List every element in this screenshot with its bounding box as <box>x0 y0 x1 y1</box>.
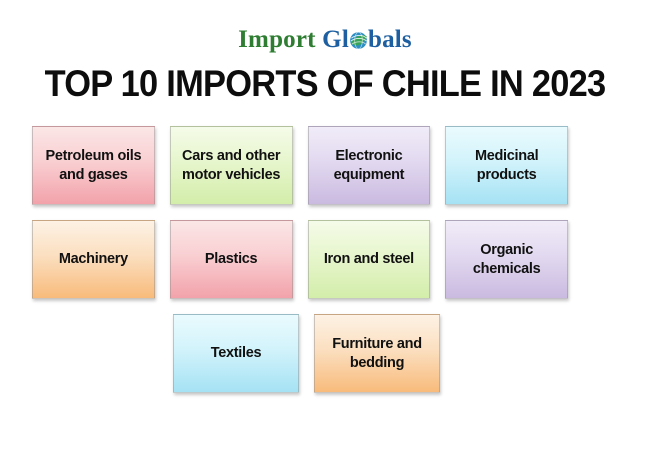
brand-word-import: Import <box>238 26 316 53</box>
import-card-label: Electronic equipment <box>315 147 424 185</box>
import-card-label: Medicinal products <box>452 147 561 185</box>
import-card-plastics[interactable]: Plastics <box>170 220 293 299</box>
brand-logo: Import Gl bals <box>0 24 650 56</box>
brand-word-globals-suffix: bals <box>368 26 412 53</box>
globe-icon <box>349 27 368 46</box>
brand-logo-text: Import Gl bals <box>238 24 412 56</box>
import-card-organic-chemicals[interactable]: Organic chemicals <box>445 220 568 299</box>
import-card-furniture-and-bedding[interactable]: Furniture and bedding <box>314 314 440 393</box>
import-card-medicinal-products[interactable]: Medicinal products <box>445 126 568 205</box>
imports-grid: Petroleum oils and gases Cars and other … <box>32 126 568 408</box>
import-card-cars-and-other-motor-vehicles[interactable]: Cars and other motor vehicles <box>170 126 293 205</box>
import-card-label: Cars and other motor vehicles <box>177 147 286 185</box>
import-card-petroleum-oils-and-gases[interactable]: Petroleum oils and gases <box>32 126 155 205</box>
import-card-machinery[interactable]: Machinery <box>32 220 155 299</box>
grid-row: Petroleum oils and gases Cars and other … <box>32 126 568 205</box>
import-card-label: Machinery <box>39 250 148 269</box>
import-card-textiles[interactable]: Textiles <box>173 314 299 393</box>
page-title: TOP 10 IMPORTS OF CHILE IN 2023 <box>23 62 628 106</box>
import-card-label: Plastics <box>177 250 286 269</box>
grid-row: Machinery Plastics Iron and steel Organi… <box>32 220 568 299</box>
import-card-electronic-equipment[interactable]: Electronic equipment <box>308 126 431 205</box>
import-card-label: Furniture and bedding <box>321 335 433 373</box>
brand-word-globals-prefix: Gl <box>322 26 349 53</box>
import-card-label: Organic chemicals <box>452 241 561 279</box>
import-card-iron-and-steel[interactable]: Iron and steel <box>308 220 431 299</box>
import-card-label: Iron and steel <box>315 250 424 269</box>
grid-row: Textiles Furniture and bedding <box>32 314 568 393</box>
import-card-label: Petroleum oils and gases <box>39 147 148 185</box>
import-card-label: Textiles <box>180 344 292 363</box>
